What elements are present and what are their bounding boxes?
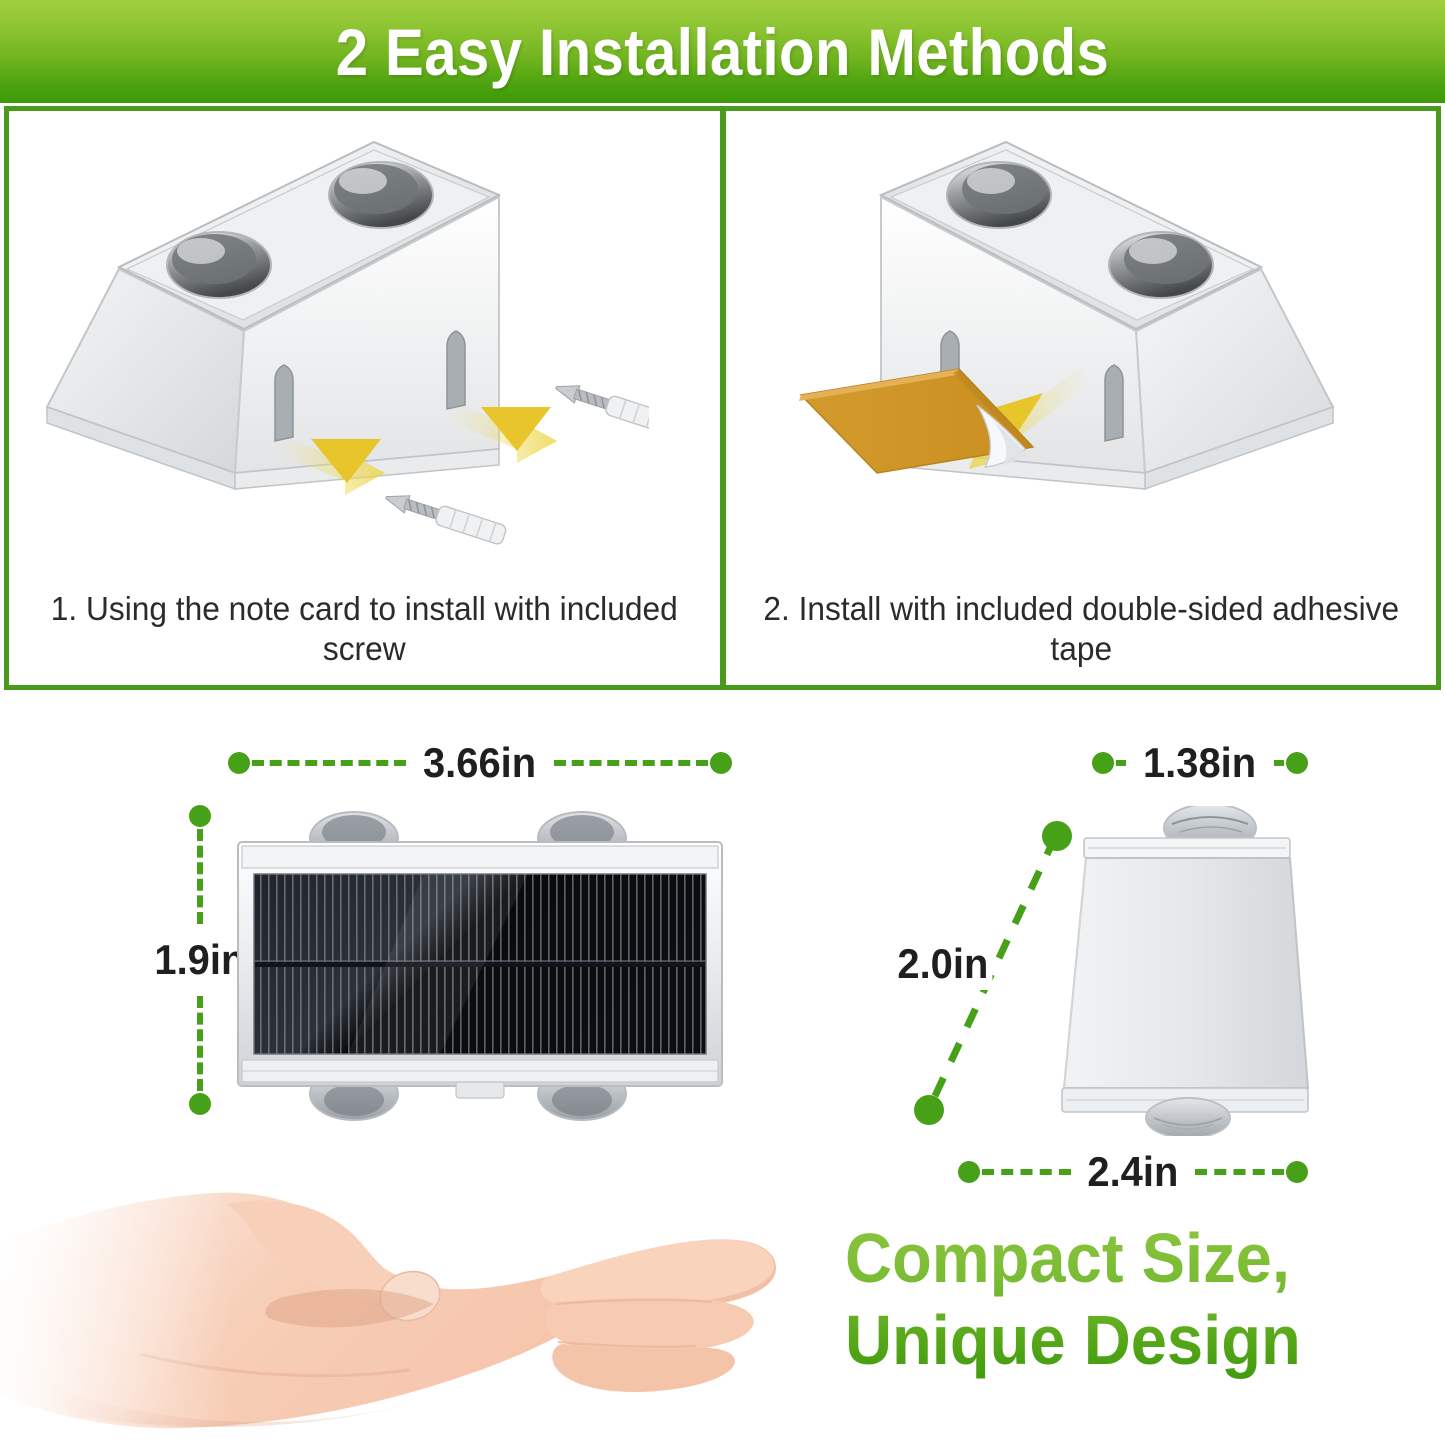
- panel-caption-screw: 1. Using the note card to install with i…: [31, 579, 698, 679]
- dim-dashed-line: [197, 829, 203, 924]
- dim-endpoint-dot: [958, 1161, 980, 1183]
- open-palm-image: [0, 1178, 820, 1445]
- dim-label-24in: 2.4in: [1076, 1148, 1190, 1196]
- dim-dashed-line: [982, 1169, 1071, 1175]
- dim-label-366in: 3.66in: [412, 739, 548, 787]
- installation-methods-box: 1. Using the note card to install with i…: [4, 106, 1441, 690]
- dim-endpoint-dot: [189, 805, 211, 827]
- dim-endpoint-dot: [1286, 1161, 1308, 1183]
- panel-screw-install: 1. Using the note card to install with i…: [9, 111, 723, 685]
- dimension-base-side-view: 2.4in: [958, 1148, 1308, 1196]
- tagline: Compact Size, Unique Design: [845, 1218, 1403, 1382]
- panel-caption-tape: 2. Install with included double-sided ad…: [747, 579, 1414, 679]
- dim-endpoint-dot: [1286, 752, 1308, 774]
- dim-dashed-line: [1274, 760, 1284, 766]
- page-title: 2 Easy Installation Methods: [336, 14, 1110, 90]
- dim-dashed-line: [197, 996, 203, 1091]
- dim-dashed-line: [554, 760, 708, 766]
- dim-endpoint-dot: [189, 1093, 211, 1115]
- dim-endpoint-dot: [1092, 752, 1114, 774]
- dim-endpoint-dot: [710, 752, 732, 774]
- dim-label-20in: 2.0in: [894, 938, 993, 990]
- dim-label-138in: 1.38in: [1132, 739, 1268, 787]
- dim-dashed-line: [252, 760, 406, 766]
- dim-endpoint-dot: [228, 752, 250, 774]
- screw-install-illustration: [9, 111, 720, 581]
- dim-dashed-line: [1116, 760, 1126, 766]
- dimension-width-top-view: 3.66in: [228, 739, 732, 787]
- tagline-line-1: Compact Size,: [845, 1218, 1403, 1300]
- tagline-line-2: Unique Design: [845, 1300, 1403, 1382]
- tape-install-illustration: [726, 111, 1437, 581]
- panel-tape-install: 2. Install with included double-sided ad…: [723, 111, 1437, 685]
- header-banner: 2 Easy Installation Methods: [0, 0, 1445, 103]
- product-side-view: [1060, 806, 1310, 1136]
- dimension-width-side-view: 1.38in: [1092, 739, 1308, 787]
- product-infographic: 2 Easy Installation Methods: [0, 0, 1445, 1445]
- dim-dashed-line: [1195, 1169, 1284, 1175]
- product-top-view: [228, 806, 732, 1122]
